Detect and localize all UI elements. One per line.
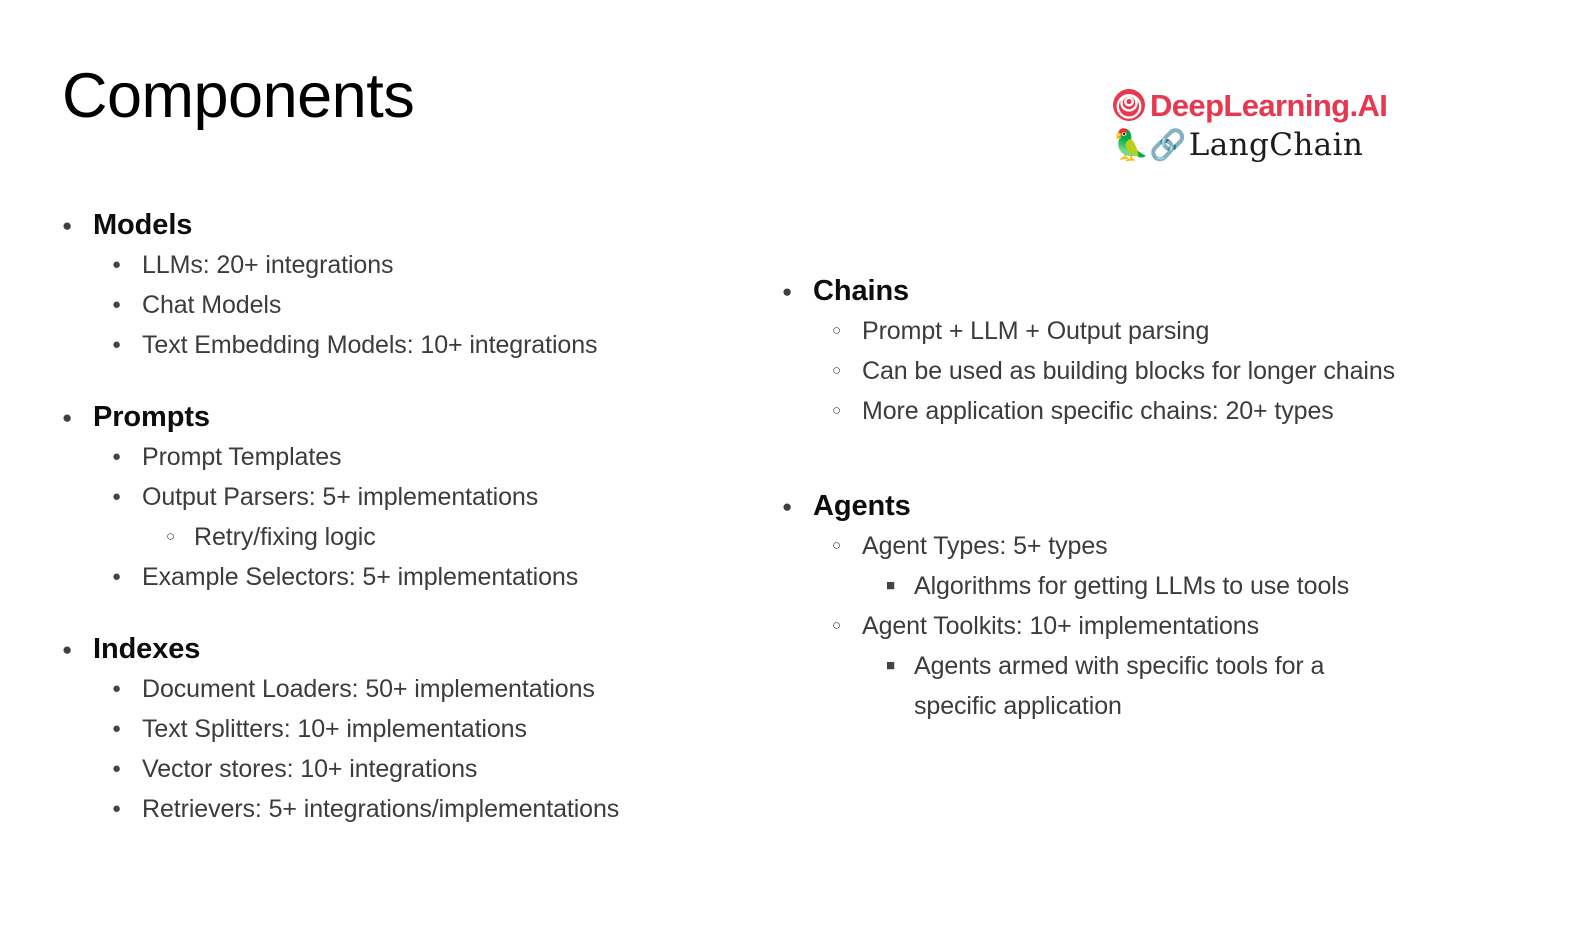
list-item: ○ More application specific chains: 20+ … — [770, 391, 1510, 431]
list-item: ○ Agent Toolkits: 10+ implementations — [770, 606, 1510, 646]
filled-circle-bullet-icon: ● — [112, 669, 142, 709]
heading-label: Prompts — [93, 398, 750, 437]
list-item-label: Retrievers: 5+ integrations/implementati… — [142, 789, 750, 829]
list-item: ○ Retry/fixing logic — [50, 517, 750, 557]
filled-circle-bullet-icon: ● — [112, 245, 142, 285]
bullet-heading-chains: ● Chains — [770, 272, 1510, 311]
list-item-label: Chat Models — [142, 285, 750, 325]
filled-circle-bullet-icon: ● — [112, 789, 142, 829]
heading-label: Chains — [813, 272, 1510, 311]
list-item-label: Agent Types: 5+ types — [862, 526, 1510, 566]
list-item-label: Prompt + LLM + Output parsing — [862, 311, 1510, 351]
list-item-label: Example Selectors: 5+ implementations — [142, 557, 750, 597]
langchain-logo: 🦜🔗 LangChain — [1112, 130, 1512, 161]
bullet-heading-prompts: ● Prompts — [50, 398, 750, 437]
list-item: ● Example Selectors: 5+ implementations — [50, 557, 750, 597]
filled-circle-bullet-icon: ● — [782, 272, 813, 311]
list-item: ● Document Loaders: 50+ implementations — [50, 669, 750, 709]
list-item: ○ Prompt + LLM + Output parsing — [770, 311, 1510, 351]
bullet-heading-models: ● Models — [50, 206, 750, 245]
list-item: ● Chat Models — [50, 285, 750, 325]
heading-label: Agents — [813, 487, 1510, 526]
list-item-label: Output Parsers: 5+ implementations — [142, 477, 750, 517]
heading-label: Models — [93, 206, 750, 245]
deeplearning-spiral-icon — [1112, 88, 1146, 122]
list-item-label: Text Splitters: 10+ implementations — [142, 709, 750, 749]
list-item-label: Agents armed with specific tools for a s… — [914, 646, 1384, 726]
filled-circle-bullet-icon: ● — [112, 477, 142, 517]
list-item-label: More application specific chains: 20+ ty… — [862, 391, 1510, 431]
filled-circle-bullet-icon: ● — [782, 487, 813, 526]
list-item-label: Algorithms for getting LLMs to use tools — [914, 566, 1510, 606]
spacer — [50, 365, 750, 398]
list-item-label: LLMs: 20+ integrations — [142, 245, 750, 285]
list-item-label: Vector stores: 10+ integrations — [142, 749, 750, 789]
list-item-label: Can be used as building blocks for longe… — [862, 351, 1510, 391]
list-item-label: Text Embedding Models: 10+ integrations — [142, 325, 750, 365]
right-content-column: ● Chains ○ Prompt + LLM + Output parsing… — [770, 272, 1510, 726]
list-item-label: Document Loaders: 50+ implementations — [142, 669, 750, 709]
filled-circle-bullet-icon: ● — [62, 398, 93, 437]
filled-circle-bullet-icon: ● — [112, 557, 142, 597]
filled-circle-bullet-icon: ● — [112, 325, 142, 365]
slide-canvas: Components DeepLearning.AI 🦜🔗 LangChain … — [0, 0, 1553, 866]
deeplearning-logo: DeepLearning.AI — [1112, 88, 1512, 122]
hollow-circle-bullet-icon: ○ — [166, 517, 194, 557]
filled-square-bullet-icon: ■ — [886, 566, 914, 606]
filled-circle-bullet-icon: ● — [62, 630, 93, 669]
list-item: ● Vector stores: 10+ integrations — [50, 749, 750, 789]
filled-circle-bullet-icon: ● — [62, 206, 93, 245]
deeplearning-wordmark: DeepLearning.AI — [1150, 90, 1387, 121]
spacer — [770, 431, 1510, 487]
list-item: ● Output Parsers: 5+ implementations — [50, 477, 750, 517]
list-item-label: Retry/fixing logic — [194, 517, 750, 557]
page-title: Components — [62, 62, 414, 130]
hollow-circle-bullet-icon: ○ — [832, 606, 862, 646]
list-item-label: Prompt Templates — [142, 437, 750, 477]
filled-square-bullet-icon: ■ — [886, 646, 914, 686]
hollow-circle-bullet-icon: ○ — [832, 526, 862, 566]
langchain-wordmark: LangChain — [1189, 130, 1364, 161]
list-item: ● Retrievers: 5+ integrations/implementa… — [50, 789, 750, 829]
parrot-chain-icon: 🦜🔗 — [1112, 131, 1187, 161]
list-item: ● Text Splitters: 10+ implementations — [50, 709, 750, 749]
left-content-column: ● Models ● LLMs: 20+ integrations ● Chat… — [50, 206, 750, 829]
heading-label: Indexes — [93, 630, 750, 669]
spacer — [50, 597, 750, 630]
bullet-heading-indexes: ● Indexes — [50, 630, 750, 669]
list-item: ■ Algorithms for getting LLMs to use too… — [770, 566, 1510, 606]
list-item: ● Text Embedding Models: 10+ integration… — [50, 325, 750, 365]
hollow-circle-bullet-icon: ○ — [832, 351, 862, 391]
filled-circle-bullet-icon: ● — [112, 709, 142, 749]
list-item: ■ Agents armed with specific tools for a… — [770, 646, 1510, 726]
list-item: ○ Agent Types: 5+ types — [770, 526, 1510, 566]
bullet-heading-agents: ● Agents — [770, 487, 1510, 526]
list-item-label: Agent Toolkits: 10+ implementations — [862, 606, 1510, 646]
filled-circle-bullet-icon: ● — [112, 437, 142, 477]
filled-circle-bullet-icon: ● — [112, 749, 142, 789]
hollow-circle-bullet-icon: ○ — [832, 391, 862, 431]
list-item: ○ Can be used as building blocks for lon… — [770, 351, 1510, 391]
branding-block: DeepLearning.AI 🦜🔗 LangChain — [1112, 88, 1512, 161]
list-item: ● LLMs: 20+ integrations — [50, 245, 750, 285]
list-item: ● Prompt Templates — [50, 437, 750, 477]
hollow-circle-bullet-icon: ○ — [832, 311, 862, 351]
filled-circle-bullet-icon: ● — [112, 285, 142, 325]
